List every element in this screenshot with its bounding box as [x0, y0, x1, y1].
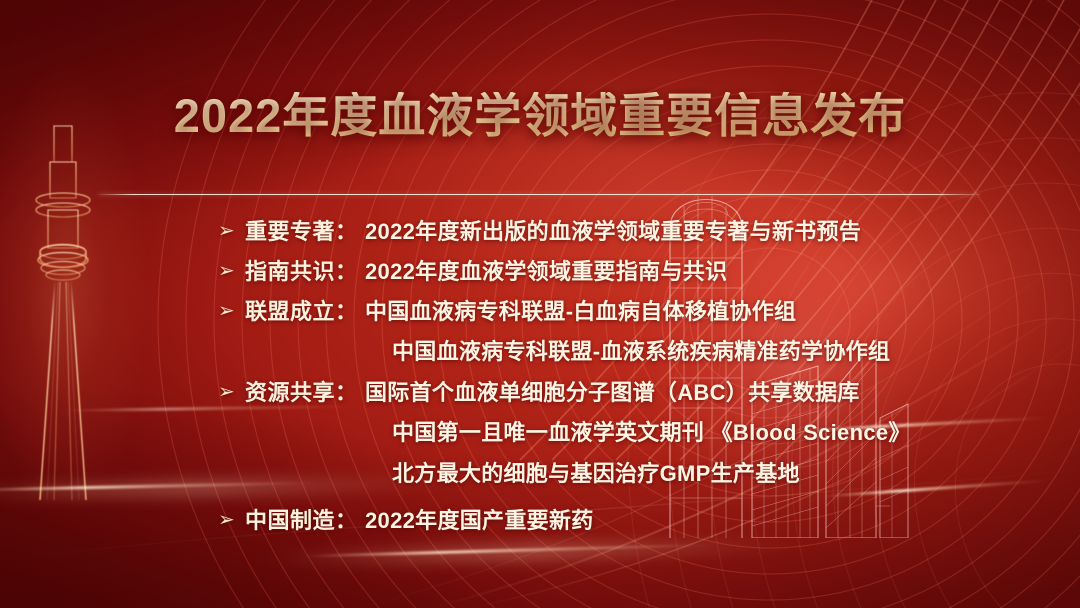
- bullet-list: ➢ 重要专著： 2022年度新出版的血液学领域重要专著与新书预告 ➢ 指南共识：…: [218, 214, 998, 543]
- list-item-label: 资源共享：: [245, 375, 365, 407]
- list-item-continuation: ​ 北方最大的细胞与基因治疗GMP生产基地: [218, 456, 998, 497]
- list-item[interactable]: ➢ 资源共享： 国际首个血液单细胞分子图谱（ABC）共享数据库: [218, 375, 998, 415]
- list-item-body: 国际首个血液单细胞分子图谱（ABC）共享数据库: [365, 375, 860, 407]
- chevron-right-icon: ➢: [218, 221, 245, 241]
- chevron-right-icon: ➢: [218, 510, 245, 530]
- slide-content: 2022年度血液学领域重要信息发布 ➢ 重要专著： 2022年度新出版的血液学领…: [0, 0, 1080, 608]
- list-item-label: 中国制造：: [245, 503, 365, 535]
- list-item-continuation: ​ 中国第一且唯一血液学英文期刊 《Blood Science》: [218, 415, 998, 456]
- list-item-label: 指南共识：: [245, 254, 365, 286]
- list-item-continuation: ​ 中国血液病专科联盟-血液系统疾病精准药学协作组: [218, 334, 998, 375]
- list-item-label: 联盟成立：: [245, 294, 365, 326]
- list-item[interactable]: ➢ 中国制造： 2022年度国产重要新药: [218, 503, 998, 543]
- list-item[interactable]: ➢ 重要专著： 2022年度新出版的血液学领域重要专著与新书预告: [218, 214, 998, 254]
- chevron-right-icon: ➢: [218, 301, 245, 321]
- title-divider: [98, 194, 980, 195]
- chevron-right-icon: ➢: [218, 261, 245, 281]
- list-item[interactable]: ➢ 指南共识： 2022年度血液学领域重要指南与共识: [218, 254, 998, 294]
- list-item-body: 中国血液病专科联盟-白血病自体移植协作组: [365, 294, 796, 326]
- list-item[interactable]: ➢ 联盟成立： 中国血液病专科联盟-白血病自体移植协作组: [218, 294, 998, 334]
- slide-title: 2022年度血液学领域重要信息发布: [0, 92, 1080, 139]
- list-item-body: 2022年度国产重要新药: [365, 503, 594, 535]
- list-item-body: 2022年度血液学领域重要指南与共识: [365, 254, 727, 286]
- list-item-continuation-text: 中国血液病专科联盟-血液系统疾病精准药学协作组: [392, 334, 890, 366]
- list-item-continuation-text: 北方最大的细胞与基因治疗GMP生产基地: [392, 456, 800, 488]
- presentation-slide: 2022年度血液学领域重要信息发布 ➢ 重要专著： 2022年度新出版的血液学领…: [0, 0, 1080, 608]
- list-item-body: 2022年度新出版的血液学领域重要专著与新书预告: [365, 214, 861, 246]
- list-item-continuation-text: 中国第一且唯一血液学英文期刊 《Blood Science》: [392, 415, 911, 447]
- chevron-right-icon: ➢: [218, 382, 245, 402]
- list-item-label: 重要专著：: [245, 214, 365, 246]
